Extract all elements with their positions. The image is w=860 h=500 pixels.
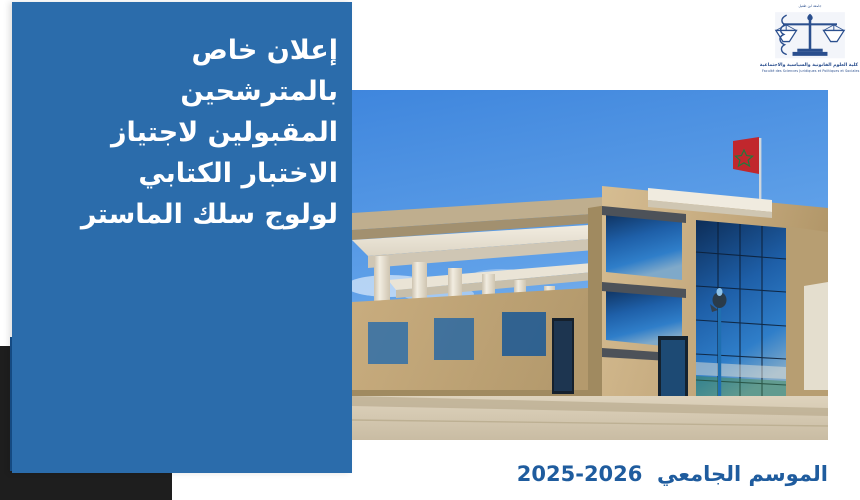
building-photo	[352, 90, 828, 440]
building-photo-illustration	[352, 90, 828, 440]
headline-line-3: المقبولين لاجتياز	[38, 112, 338, 153]
headline-line-5: لولوج سلك الماستر	[38, 194, 338, 235]
scales-of-justice-icon	[762, 9, 858, 63]
page-title: إعلان خاص بالمترشحين المقبولين لاجتياز ا…	[38, 30, 338, 235]
headline-line-1: إعلان خاص	[38, 30, 338, 71]
headline-line-4: الاختبار الكتابي	[38, 153, 338, 194]
headline-line-2: بالمترشحين	[38, 71, 338, 112]
academic-season: الموسم الجامعي 2025-2026	[517, 462, 828, 486]
logo-faculty-name-fr: Faculté des Sciences Juridiques et Polit…	[762, 69, 858, 74]
headline-panel: إعلان خاص بالمترشحين المقبولين لاجتياز ا…	[12, 2, 352, 473]
season-label: الموسم الجامعي	[657, 462, 828, 486]
poster-canvas: إعلان خاص بالمترشحين المقبولين لاجتياز ا…	[0, 0, 860, 500]
season-years: 2025-2026	[517, 462, 643, 486]
faculty-logo: جامعة ابن طفيل كلية العلوم القان	[762, 2, 858, 86]
